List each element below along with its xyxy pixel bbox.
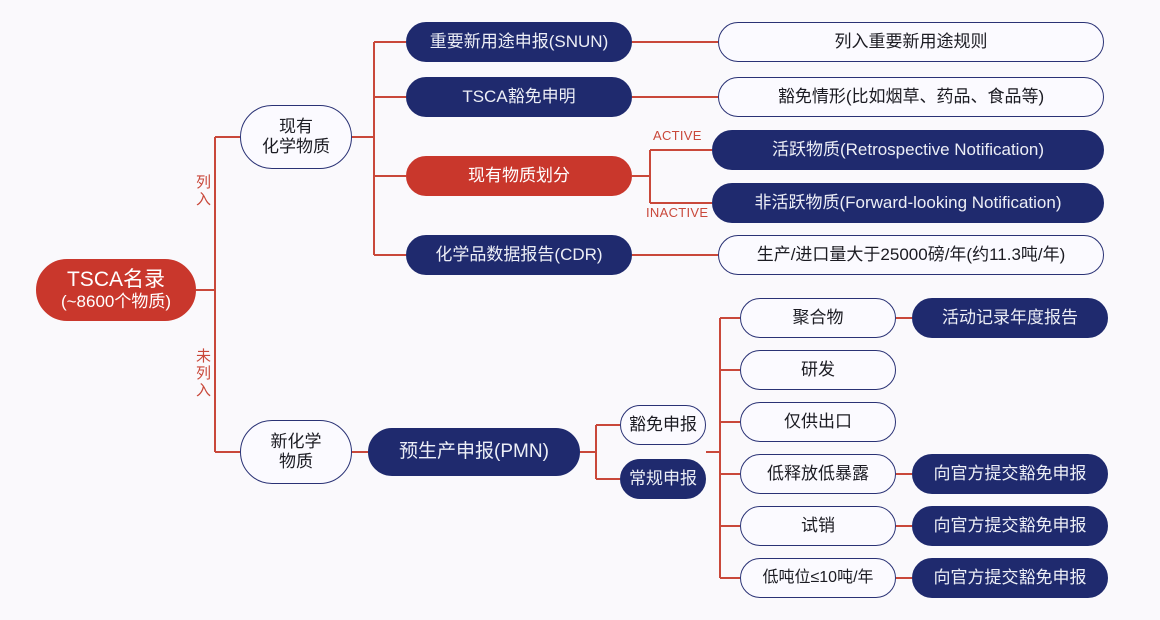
node-exemption-filing[interactable]: 豁免申报: [620, 405, 706, 445]
root-node-line1: TSCA名录: [67, 268, 165, 293]
node-action-annual-activity-report[interactable]: 活动记录年度报告: [912, 298, 1108, 338]
edge-label-inactive: INACTIVE: [646, 205, 708, 220]
node-tsca-exemption-cases[interactable]: 豁免情形(比如烟草、药品、食品等): [718, 77, 1104, 117]
node-snun[interactable]: 重要新用途申报(SNUN): [406, 22, 632, 62]
node-standard-filing[interactable]: 常规申报: [620, 459, 706, 499]
node-cdr-threshold[interactable]: 生产/进口量大于25000磅/年(约11.3吨/年): [718, 235, 1104, 275]
node-category-polymer[interactable]: 聚合物: [740, 298, 896, 338]
flowchart-canvas: 列入 未列入 ACTIVE INACTIVE TSCA名录 (~8600个物质)…: [0, 0, 1160, 620]
node-existing-chemicals[interactable]: 现有 化学物质: [240, 105, 352, 169]
node-category-export-only[interactable]: 仅供出口: [740, 402, 896, 442]
root-node-tsca-inventory[interactable]: TSCA名录 (~8600个物质): [36, 259, 196, 321]
node-inactive-substance[interactable]: 非活跃物质(Forward-looking Notification): [712, 183, 1104, 223]
root-node-line2: (~8600个物质): [61, 292, 171, 312]
edge-label-listed: 列入: [192, 174, 213, 208]
edge-label-active: ACTIVE: [653, 128, 702, 143]
node-snun-result[interactable]: 列入重要新用途规则: [718, 22, 1104, 62]
node-action-submit-exemption-lvе[interactable]: 向官方提交豁免申报: [912, 558, 1108, 598]
node-category-rnd[interactable]: 研发: [740, 350, 896, 390]
edge-label-not-listed: 未列入: [192, 348, 213, 399]
node-cdr[interactable]: 化学品数据报告(CDR): [406, 235, 632, 275]
node-tsca-exemption-statement[interactable]: TSCA豁免申明: [406, 77, 632, 117]
node-existing-substance-classification[interactable]: 现有物质划分: [406, 156, 632, 196]
node-action-submit-exemption-lorex[interactable]: 向官方提交豁免申报: [912, 454, 1108, 494]
node-pmn[interactable]: 预生产申报(PMN): [368, 428, 580, 476]
node-new-chemicals[interactable]: 新化学 物质: [240, 420, 352, 484]
node-category-test-marketing[interactable]: 试销: [740, 506, 896, 546]
node-active-substance[interactable]: 活跃物质(Retrospective Notification): [712, 130, 1104, 170]
node-category-low-release-low-exposure[interactable]: 低释放低暴露: [740, 454, 896, 494]
node-action-submit-exemption-tme[interactable]: 向官方提交豁免申报: [912, 506, 1108, 546]
node-category-low-volume[interactable]: 低吨位≤10吨/年: [740, 558, 896, 598]
